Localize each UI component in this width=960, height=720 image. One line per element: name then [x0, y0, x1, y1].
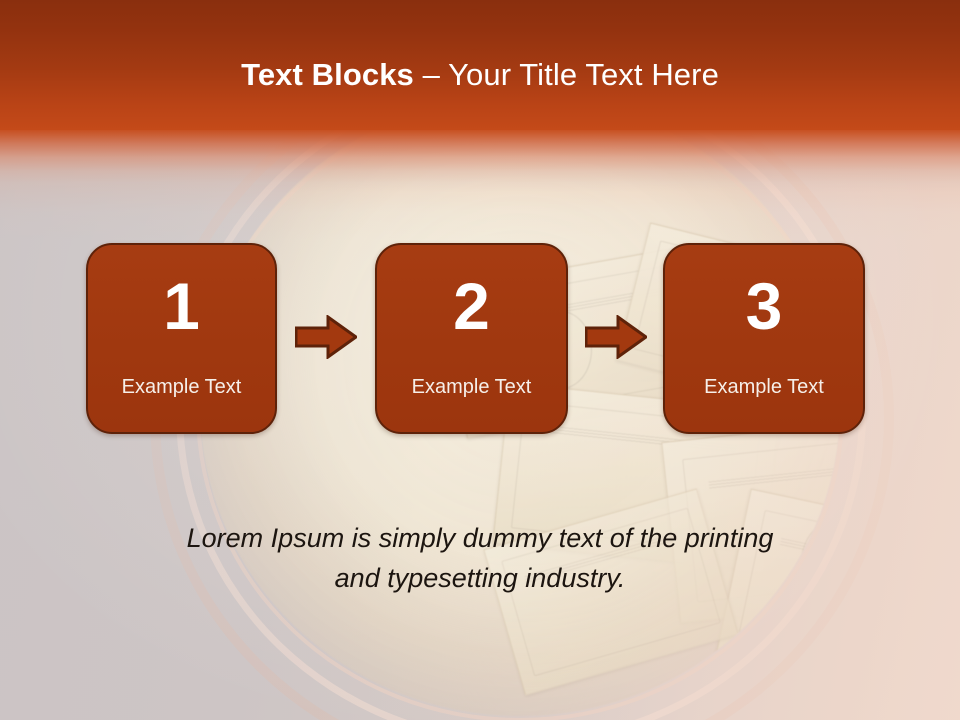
- step-label-2: Example Text: [377, 375, 566, 399]
- step-number-1: 1: [88, 271, 275, 341]
- arrow-right-icon-2: [585, 315, 647, 359]
- slide-caption: Lorem Ipsum is simply dummy text of the …: [120, 518, 840, 598]
- step-label-3: Example Text: [665, 375, 863, 399]
- page-title: Text Blocks – Your Title Text Here: [0, 56, 960, 94]
- step-box-3[interactable]: 3 Example Text: [663, 243, 865, 434]
- presentation-slide: Text Blocks – Your Title Text Here 1 Exa…: [0, 0, 960, 720]
- step-box-1[interactable]: 1 Example Text: [86, 243, 277, 434]
- page-title-light: – Your Title Text Here: [423, 57, 719, 92]
- step-label-1: Example Text: [88, 375, 275, 399]
- step-number-3: 3: [665, 271, 863, 341]
- step-box-2[interactable]: 2 Example Text: [375, 243, 568, 434]
- caption-line-1: Lorem Ipsum is simply dummy text of the …: [120, 518, 840, 558]
- caption-line-2: and typesetting industry.: [120, 558, 840, 598]
- header-fade-gradient: [0, 130, 960, 192]
- page-title-strong: Text Blocks: [241, 57, 423, 92]
- arrow-right-icon-1: [295, 315, 357, 359]
- step-number-2: 2: [377, 271, 566, 341]
